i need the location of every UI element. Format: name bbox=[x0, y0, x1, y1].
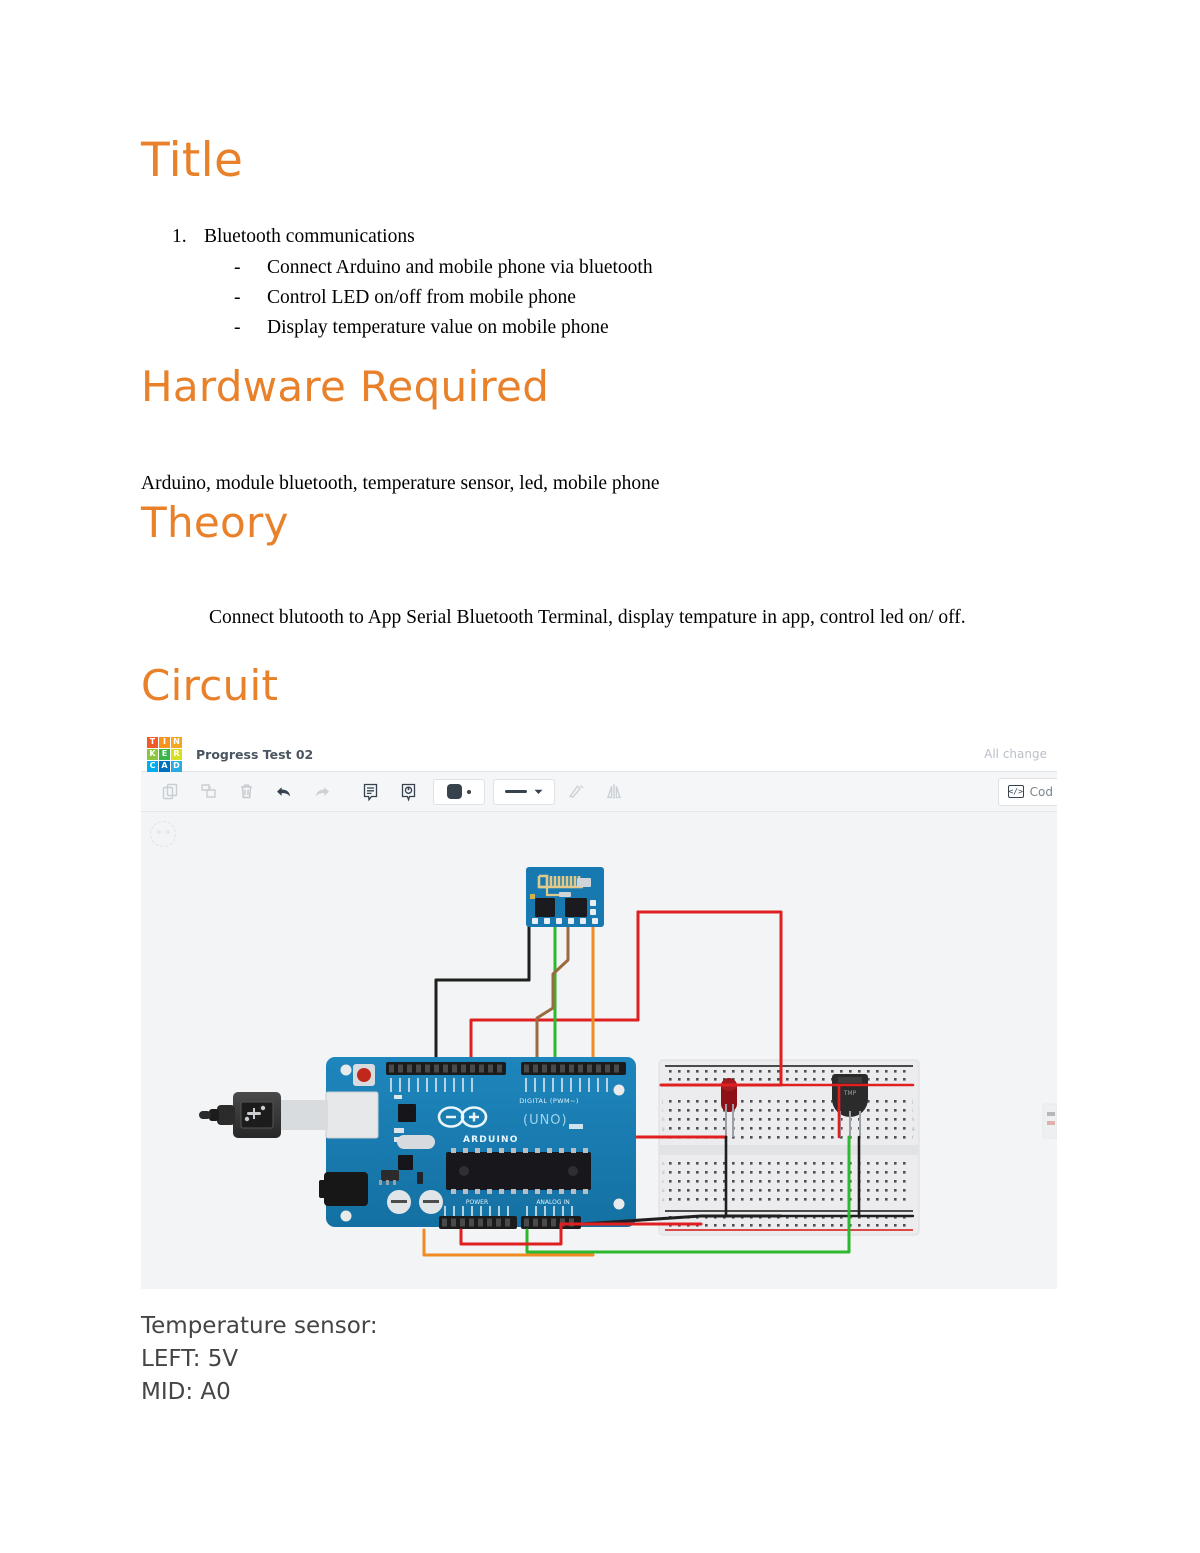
heading-theory: Theory bbox=[141, 502, 289, 544]
list-number: 1. bbox=[172, 222, 204, 252]
bullet-dash: - bbox=[234, 283, 267, 313]
delete-icon[interactable] bbox=[229, 777, 263, 807]
title-sub-list: - Connect Arduino and mobile phone via b… bbox=[172, 253, 1032, 343]
heading-hardware-required: Hardware Required bbox=[141, 366, 549, 408]
board-model-text: (UNO) bbox=[523, 1113, 568, 1128]
project-title[interactable]: Progress Test 02 bbox=[196, 747, 313, 762]
svg-text:j: j bbox=[911, 1099, 913, 1104]
usb-cable bbox=[199, 1092, 328, 1138]
svg-text:TMP: TMP bbox=[843, 1090, 857, 1097]
list-item: - Connect Arduino and mobile phone via b… bbox=[172, 253, 1032, 283]
theory-paragraph: Connect blutooth to App Serial Bluetooth… bbox=[141, 603, 1063, 633]
list-item-label: Display temperature value on mobile phon… bbox=[267, 313, 609, 343]
circuit-caption: Temperature sensor: LEFT: 5V MID: A0 bbox=[141, 1310, 378, 1409]
caption-line-2: LEFT: 5V bbox=[141, 1343, 378, 1376]
hardware-paragraph: Arduino, module bluetooth, temperature s… bbox=[141, 470, 1041, 498]
notes-icon[interactable] bbox=[353, 777, 387, 807]
digital-header-label: DIGITAL (PWM~) bbox=[519, 1097, 579, 1105]
logo-tile: I bbox=[159, 737, 170, 748]
code-icon: </> bbox=[1008, 785, 1024, 798]
power-header-label: POWER bbox=[466, 1199, 488, 1206]
logo-tile: A bbox=[159, 761, 170, 772]
svg-text:i: i bbox=[912, 1108, 913, 1113]
arduino-uno-board: DIGITAL (PWM~) ARDUINO (UNO) bbox=[319, 1057, 636, 1229]
caption-line-3: MID: A0 bbox=[141, 1376, 378, 1409]
list-item: - Display temperature value on mobile ph… bbox=[172, 313, 1032, 343]
rotate-icon[interactable] bbox=[559, 777, 593, 807]
arduino-silk-text: ARDUINO bbox=[463, 1135, 519, 1145]
list-item-label: Bluetooth communications bbox=[204, 222, 415, 252]
tinkercad-screenshot: T I N K E R C A D Progress Test 02 All c… bbox=[141, 737, 1057, 1290]
list-item-label: Connect Arduino and mobile phone via blu… bbox=[267, 253, 653, 283]
logo-tile: R bbox=[171, 749, 182, 760]
wire-color-dropdown-dot bbox=[467, 790, 471, 794]
chevron-down-icon bbox=[534, 789, 543, 795]
redo-icon[interactable] bbox=[305, 777, 339, 807]
logo-tile: C bbox=[147, 761, 158, 772]
analog-header-label: ANALOG IN bbox=[536, 1199, 569, 1206]
heading-title: Title bbox=[141, 137, 243, 184]
tinkercad-logo[interactable]: T I N K E R C A D bbox=[147, 737, 182, 772]
annotation-icon[interactable] bbox=[391, 777, 425, 807]
svg-text:c: c bbox=[662, 1179, 664, 1184]
list-item-label: Control LED on/off from mobile phone bbox=[267, 283, 576, 313]
logo-tile: D bbox=[171, 761, 182, 772]
code-button[interactable]: </> Cod bbox=[998, 778, 1057, 806]
logo-tile: T bbox=[147, 737, 158, 748]
title-list: 1. Bluetooth communications - Connect Ar… bbox=[172, 222, 1032, 343]
bullet-dash: - bbox=[234, 313, 267, 343]
wire-color-swatch[interactable] bbox=[433, 779, 485, 805]
svg-text:i: i bbox=[662, 1108, 663, 1113]
wire-type-preview bbox=[505, 790, 527, 793]
copy-icon[interactable] bbox=[153, 777, 187, 807]
paste-icon[interactable] bbox=[191, 777, 225, 807]
caption-line-1: Temperature sensor: bbox=[141, 1310, 378, 1343]
svg-text:j: j bbox=[661, 1099, 663, 1104]
list-item: 1. Bluetooth communications bbox=[172, 222, 1032, 252]
logo-tile: K bbox=[147, 749, 158, 760]
wire-type-selector[interactable] bbox=[493, 779, 555, 805]
heading-circuit: Circuit bbox=[141, 665, 278, 707]
circuit-diagram: DIGITAL (PWM~) ARDUINO (UNO) bbox=[141, 812, 1057, 1289]
document-page: Title 1. Bluetooth communications - Conn… bbox=[0, 0, 1200, 1553]
logo-tile: N bbox=[171, 737, 182, 748]
logo-tile: E bbox=[159, 749, 170, 760]
mirror-icon[interactable] bbox=[597, 777, 631, 807]
undo-icon[interactable] bbox=[267, 777, 301, 807]
code-button-label: Cod bbox=[1030, 785, 1053, 799]
list-item: - Control LED on/off from mobile phone bbox=[172, 283, 1032, 313]
tinkercad-header: T I N K E R C A D Progress Test 02 All c… bbox=[141, 737, 1057, 772]
wire-color-current bbox=[447, 784, 462, 799]
partial-component-right-edge bbox=[1043, 1104, 1057, 1138]
circuit-canvas[interactable]: DIGITAL (PWM~) ARDUINO (UNO) bbox=[141, 812, 1057, 1289]
esp8266-module bbox=[526, 867, 604, 927]
theory-text: Connect blutooth to App Serial Bluetooth… bbox=[209, 607, 966, 628]
tinkercad-toolbar: </> Cod bbox=[141, 772, 1057, 812]
save-status: All change bbox=[984, 747, 1047, 761]
bullet-dash: - bbox=[234, 253, 267, 283]
